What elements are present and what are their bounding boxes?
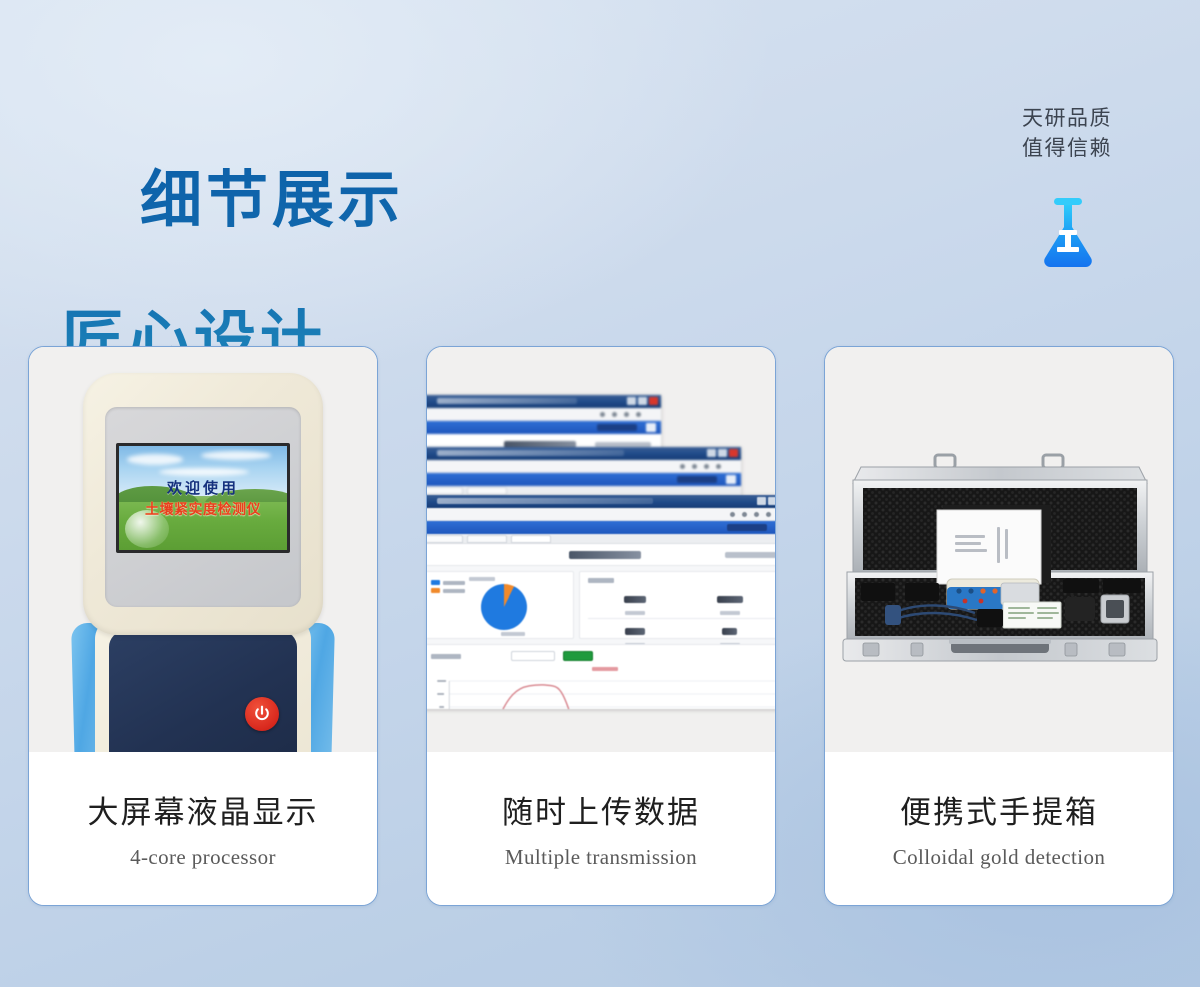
dashboard-date	[725, 552, 775, 558]
chart-toolbar	[431, 651, 775, 661]
dashboard-title	[569, 551, 641, 559]
card-caption: 便携式手提箱 Colloidal gold detection	[825, 752, 1173, 905]
case-accessory-card	[1003, 602, 1061, 628]
kpi-value	[722, 628, 737, 635]
browser-window-stack	[427, 347, 775, 754]
device-head: 欢迎使用 土壤紧实度检测仪	[83, 373, 323, 635]
toolbar-icon[interactable]	[624, 412, 629, 417]
legend-item	[431, 580, 465, 585]
case-manual	[937, 505, 1051, 584]
pie-chart-panel	[427, 571, 574, 639]
dashboard-top-row	[427, 571, 775, 639]
flask-icon-wrapper	[1008, 196, 1128, 273]
window-content	[427, 534, 775, 709]
device-lcd-screen[interactable]: 欢迎使用 土壤紧实度检测仪	[116, 443, 290, 553]
browser-tabs[interactable]	[427, 534, 775, 544]
card-caption: 大屏幕液晶显示 4-core processor	[29, 752, 377, 905]
date-select[interactable]	[511, 651, 555, 661]
window-title-text	[437, 498, 653, 504]
feature-card-data-upload[interactable]: 随时上传数据 Multiple transmission	[426, 346, 776, 906]
browser-navbar	[427, 521, 775, 534]
lcd-product-name: 土壤紧实度检测仪	[119, 499, 287, 519]
lcd-cloud	[201, 451, 271, 460]
feature-card-lcd-display[interactable]: 欢迎使用 土壤紧实度检测仪 大屏幕液晶显示 4-core processor	[28, 346, 378, 906]
pie-slice-label	[469, 577, 495, 581]
minimize-icon[interactable]	[757, 497, 766, 505]
line-chart-panel	[427, 644, 775, 709]
case-clasp	[863, 643, 879, 656]
settings-icon[interactable]	[716, 464, 721, 469]
toolbar-icon[interactable]	[612, 412, 617, 417]
close-icon[interactable]	[649, 397, 658, 405]
aluminium-case	[825, 347, 1173, 754]
card-title-en: 4-core processor	[130, 845, 276, 870]
toolbar-icons[interactable]	[680, 464, 721, 469]
headline-line-1: 细节展示	[140, 167, 404, 235]
pie-legend	[431, 580, 465, 596]
kpi-label	[720, 611, 740, 615]
maximize-icon[interactable]	[718, 449, 727, 457]
toolbar-icon[interactable]	[730, 512, 735, 517]
window-titlebar	[427, 495, 775, 508]
tab[interactable]	[467, 487, 507, 495]
maximize-icon[interactable]	[768, 497, 775, 505]
card-title-cn: 随时上传数据	[502, 787, 700, 832]
tagline-line-1: 天研品质	[972, 104, 1162, 134]
kpi-value	[625, 628, 645, 635]
window-titlebar	[427, 447, 741, 460]
dashboard-header	[427, 544, 775, 566]
tab-active[interactable]	[511, 535, 551, 543]
legend-label	[443, 589, 465, 593]
toolbar-icon[interactable]	[754, 512, 759, 517]
chart-title	[431, 654, 461, 659]
tab[interactable]	[427, 487, 463, 495]
flask-icon	[1036, 196, 1100, 268]
toolbar-icon[interactable]	[692, 464, 697, 469]
device-body	[95, 617, 311, 754]
toolbar-icon[interactable]	[704, 464, 709, 469]
navbar-button[interactable]	[726, 475, 736, 484]
detail-showcase-page: 细节展示 匠心设计 天研品质 值得信赖	[0, 0, 1200, 987]
line-chart-svg	[433, 677, 775, 709]
device-front-panel: 欢迎使用 土壤紧实度检测仪	[105, 407, 301, 607]
legend-label	[443, 581, 465, 585]
maximize-icon[interactable]	[638, 397, 647, 405]
minimize-icon[interactable]	[707, 449, 716, 457]
card-title-en: Multiple transmission	[505, 845, 697, 870]
line-chart-area	[433, 677, 775, 709]
legend-item	[431, 588, 465, 593]
toolbar-icon[interactable]	[600, 412, 605, 417]
navbar-pill[interactable]	[677, 476, 717, 483]
pie-slice-label	[501, 632, 525, 636]
browser-window-front	[427, 495, 775, 709]
kpi-value	[717, 596, 743, 603]
pie-chart	[481, 584, 527, 630]
browser-navbar	[427, 473, 741, 486]
case-clasp	[911, 643, 923, 656]
lcd-cloud	[159, 468, 249, 476]
browser-toolbar	[427, 460, 741, 473]
kpi-label	[625, 611, 645, 615]
window-controls[interactable]	[757, 497, 775, 505]
tab[interactable]	[427, 535, 463, 543]
device-keypad	[109, 631, 297, 754]
card-title-cn: 大屏幕液晶显示	[88, 787, 319, 832]
handheld-device: 欢迎使用 土壤紧实度检测仪	[67, 365, 339, 754]
card-media-screens	[427, 347, 775, 754]
browser-navbar	[427, 421, 661, 434]
browser-toolbar	[427, 508, 775, 521]
feature-cards: 欢迎使用 土壤紧实度检测仪 大屏幕液晶显示 4-core processor	[28, 346, 1174, 906]
card-title-cn: 便携式手提箱	[900, 787, 1098, 832]
brand-tagline: 天研品质 值得信赖	[972, 104, 1162, 164]
navbar-button[interactable]	[646, 423, 656, 432]
lcd-welcome-text: 欢迎使用	[119, 477, 287, 498]
browser-toolbar	[427, 408, 661, 421]
settings-icon[interactable]	[766, 512, 771, 517]
window-controls[interactable]	[627, 397, 658, 405]
minimize-icon[interactable]	[627, 397, 636, 405]
power-button[interactable]	[245, 697, 279, 731]
legend-swatch	[431, 580, 440, 585]
toolbar-icon[interactable]	[742, 512, 747, 517]
case-cable-coil	[885, 605, 901, 625]
tagline-line-2: 值得信赖	[972, 134, 1162, 164]
case-latch-right	[1043, 455, 1063, 468]
case-clasp	[1109, 643, 1125, 656]
card-title-en: Colloidal gold detection	[893, 845, 1106, 870]
kpi-cell	[588, 587, 683, 619]
window-title-text	[437, 398, 577, 404]
kpi-grid	[588, 587, 775, 650]
settings-icon[interactable]	[636, 412, 641, 417]
window-controls[interactable]	[707, 449, 738, 457]
kpi-panel-title	[588, 578, 614, 583]
window-title-text	[437, 450, 624, 456]
line-chart-legend	[592, 667, 618, 671]
toolbar-icon[interactable]	[680, 464, 685, 469]
query-button[interactable]	[563, 651, 593, 661]
kpi-panel	[579, 571, 775, 639]
case-latch-left	[935, 455, 955, 468]
lcd-cloud	[127, 454, 183, 465]
dashboard-body	[427, 566, 775, 709]
close-icon[interactable]	[729, 449, 738, 457]
kpi-value	[624, 596, 646, 603]
case-illustration	[825, 347, 1173, 754]
feature-card-portable-case[interactable]: 便携式手提箱 Colloidal gold detection	[824, 346, 1174, 906]
kpi-cell	[683, 587, 776, 619]
toolbar-icons[interactable]	[730, 512, 771, 517]
navbar-pill[interactable]	[597, 424, 637, 431]
tab[interactable]	[467, 535, 507, 543]
card-caption: 随时上传数据 Multiple transmission	[427, 752, 775, 905]
navbar-pill[interactable]	[727, 524, 767, 531]
card-media-case	[825, 347, 1173, 754]
legend-swatch	[431, 588, 440, 593]
case-clasp	[1065, 643, 1077, 656]
card-media-device: 欢迎使用 土壤紧实度检测仪	[29, 347, 377, 754]
toolbar-icons[interactable]	[600, 412, 641, 417]
window-titlebar	[427, 395, 661, 408]
power-icon	[252, 704, 272, 724]
